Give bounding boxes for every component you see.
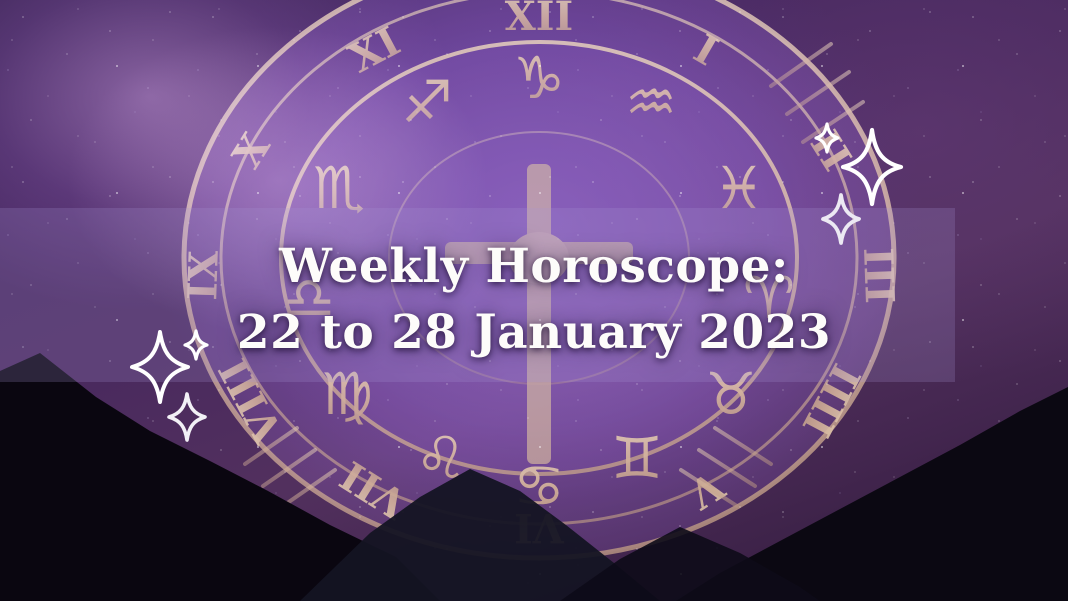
sparkle-small-left: [183, 329, 209, 361]
roman-numeral-III: III: [854, 247, 903, 305]
sparkle-small-right: [814, 122, 840, 154]
zodiac-glyph-scorpio: ♏: [313, 154, 365, 222]
sparkle-medium-left: [167, 392, 207, 442]
sparkle-medium-right: [820, 193, 862, 245]
zodiac-glyph-sagittarius: ♐: [401, 68, 453, 136]
roman-numeral-IX: IX: [179, 250, 228, 301]
zodiac-glyph-capricorn: ♑: [513, 44, 565, 112]
roman-numeral-XII: XII: [505, 0, 573, 40]
zodiac-glyph-pisces: ♓: [713, 154, 765, 222]
horoscope-banner: XII I II III IIII V VI VII VIII IX X XI …: [0, 0, 1068, 601]
zodiac-glyph-aquarius: ♒: [625, 68, 677, 136]
